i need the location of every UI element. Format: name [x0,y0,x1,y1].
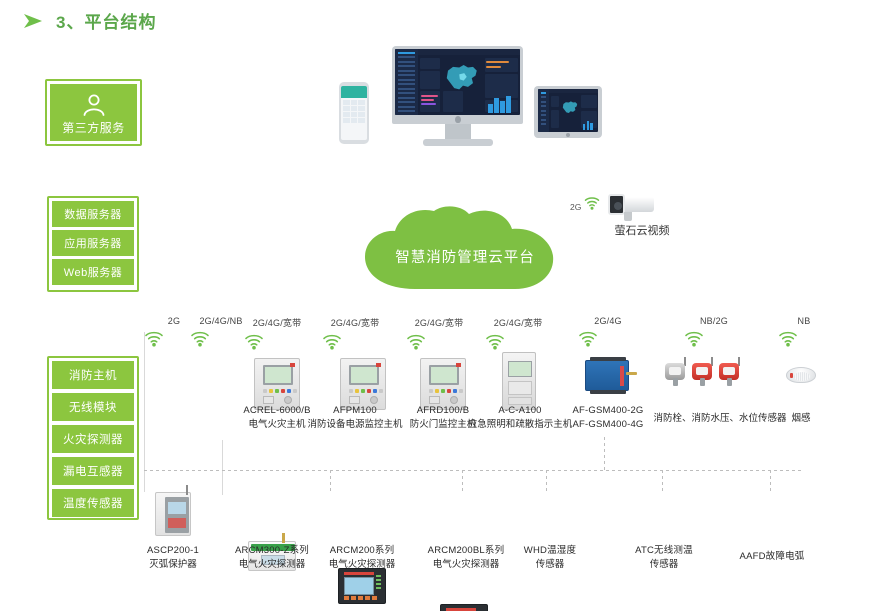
device-category-fire-host[interactable]: 消防主机 [52,361,134,389]
desc-ascp200-1: 灭弧保护器 [128,558,218,572]
network-column-4: 2G/4G/宽带 [322,316,388,350]
arrow-right-icon [22,11,44,31]
desc-smoke-detector: 烟感 [775,412,827,426]
device-category-box: 消防主机 无线模块 火灾探测器 漏电互感器 温度传感器 [47,356,139,520]
person-icon [81,93,107,117]
sensor-hydrant [665,360,687,386]
caption-aafd: AAFD故障电弧 [730,550,814,564]
device-ascp200-1 [155,492,191,536]
connector-drop-1 [330,470,331,492]
wifi-icon [778,330,830,347]
connector-vertical-left [144,332,145,492]
wifi-icon [578,330,638,347]
wifi-icon [322,333,388,350]
china-map-icon [443,57,481,98]
cctv-camera-icon [600,190,658,224]
model-aafd: AAFD故障电弧 [730,550,814,564]
model-ascp200-1: ASCP200-1 [128,544,218,558]
apple-logo-icon [455,116,461,123]
desc-whd: 传感器 [512,558,588,572]
caption-ascp200-1: ASCP200-1 灭弧保护器 [128,544,218,572]
sensor-water-level [719,360,741,386]
connector-drop-4 [662,470,663,492]
desc-atc: 传感器 [622,558,706,572]
network-label-6: 2G/4G/宽带 [485,316,551,329]
model-af-gsm400-4g: AF-GSM400-4G [558,418,658,432]
wifi-icon [244,333,310,350]
third-party-service-label: 第三方服务 [62,119,125,136]
network-column-2: 2G/4G/NB [190,316,252,347]
device-category-wireless-module[interactable]: 无线模块 [52,393,134,421]
caption-pressure-sensors: 消防栓、消防水压、水位传感器 [645,412,795,426]
wifi-icon [406,333,472,350]
network-label-7: 2G/4G [578,316,638,326]
device-afpm100 [340,358,386,410]
camera-label: 萤石云视频 [600,222,684,238]
device-aca100 [502,352,536,410]
caption-smoke-detector: 烟感 [775,412,827,426]
device-pressure-sensors [665,360,741,386]
tablet-device [534,86,602,138]
caption-atc: ATC无线测温 传感器 [622,544,706,572]
caption-whd: WHD温湿度 传感器 [512,544,588,572]
desc-arcm200bl: 电气火灾探测器 [412,558,520,572]
connector-drop-3 [546,470,547,492]
network-column-6: 2G/4G/宽带 [485,316,551,350]
model-atc: ATC无线测温 [622,544,706,558]
network-column-7: 2G/4G [578,316,638,347]
smartphone-device [339,82,369,144]
network-label-8: NB/2G [684,316,744,326]
model-arcm200: ARCM200系列 [314,544,410,558]
wifi-icon [684,330,744,347]
network-column-3: 2G/4G/宽带 [244,316,310,350]
device-af-gsm400 [585,360,629,391]
server-item-data[interactable]: 数据服务器 [52,201,134,227]
model-whd: WHD温湿度 [512,544,588,558]
cloud-platform-label: 智慧消防管理云平台 [355,205,575,293]
server-stack-box: 数据服务器 应用服务器 Web服务器 [47,196,139,292]
server-item-web[interactable]: Web服务器 [52,259,134,285]
device-smoke-detector [786,367,816,383]
caption-arcm300z: ARCM300-Z系列 电气火灾探测器 [222,544,322,572]
page-title: 3、平台结构 [56,8,156,33]
sensor-water-pressure [692,360,714,386]
server-item-app[interactable]: 应用服务器 [52,230,134,256]
camera-wifi-icon [584,196,600,210]
connector-horizontal-bus [144,470,804,471]
network-column-8: NB/2G [684,316,744,347]
connector-riser-gsm [604,437,605,471]
camera-network-label: 2G [570,202,581,212]
caption-arcm200bl: ARCM200BL系列 电气火灾探测器 [412,544,520,572]
diagram-canvas: 3、平台结构 第三方服务 数据服务器 应用服务器 Web服务器 消防主机 无线模… [0,0,890,611]
model-arcm200bl: ARCM200BL系列 [412,544,520,558]
page-title-row: 3、平台结构 [22,8,156,33]
third-party-service-box[interactable]: 第三方服务 [45,79,142,146]
desc-arcm200: 电气火灾探测器 [314,558,410,572]
caption-af-gsm400: AF-GSM400-2G AF-GSM400-4G [558,404,658,432]
network-label-2: 2G/4G/NB [190,316,252,326]
model-arcm300z: ARCM300-Z系列 [222,544,322,558]
caption-arcm200: ARCM200系列 电气火灾探测器 [314,544,410,572]
imac-desktop-device [392,46,523,148]
network-label-4: 2G/4G/宽带 [322,316,388,329]
device-arcm200 [338,568,386,604]
cloud-platform[interactable]: 智慧消防管理云平台 [355,205,575,293]
model-af-gsm400-2g: AF-GSM400-2G [558,404,658,418]
desc-pressure-sensors: 消防栓、消防水压、水位传感器 [645,412,795,426]
device-acrel-6000b [254,358,300,410]
network-column-5: 2G/4G/宽带 [406,316,472,350]
wifi-icon [190,330,252,347]
dashboard-preview [395,49,520,115]
network-label-5: 2G/4G/宽带 [406,316,472,329]
network-column-9: NB [778,316,830,347]
device-arcm200bl [440,604,488,611]
connector-drop-2 [462,470,463,492]
network-label-9: NB [778,316,830,326]
device-category-leakage-transformer[interactable]: 漏电互感器 [52,457,134,485]
device-afrd100b [420,358,466,410]
network-label-3: 2G/4G/宽带 [244,316,310,329]
connector-vertical-2 [222,440,223,495]
device-category-temp-sensor[interactable]: 温度传感器 [52,489,134,517]
connector-drop-5 [770,470,771,492]
desc-arcm300z: 电气火灾探测器 [222,558,322,572]
device-category-fire-detector[interactable]: 火灾探测器 [52,425,134,453]
wifi-icon [485,333,551,350]
